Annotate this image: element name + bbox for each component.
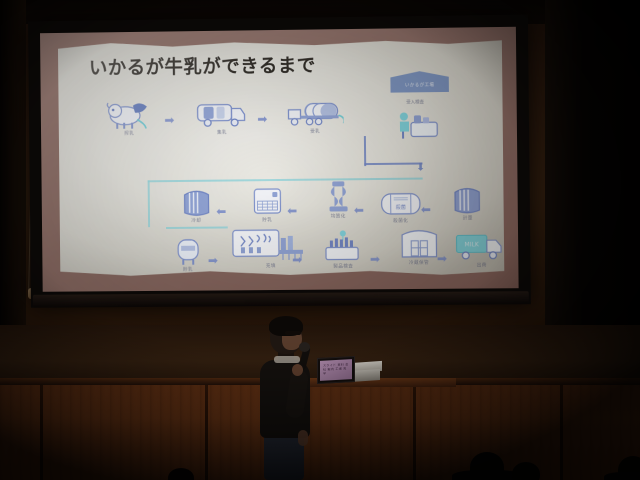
laptop-screen-content: スライド 資料 会社 案内 工場 見学 — [320, 359, 352, 381]
arrow-left-4: ⬅ — [421, 204, 431, 216]
inspection-worker-icon — [395, 111, 444, 146]
screen-canvas: いかるが牛乳ができるまで — [58, 37, 504, 278]
process-node-measuring: 計量 — [436, 179, 499, 221]
panel-seam — [205, 385, 208, 480]
laptop-screen-text: スライド 資料 会社 案内 工場 見学 — [323, 362, 349, 377]
svg-text:MILK: MILK — [464, 241, 479, 248]
panel-seam — [40, 385, 43, 480]
inspection-icon — [312, 228, 375, 263]
process-label: 製品検査 — [312, 263, 374, 270]
panel-seam — [413, 385, 416, 480]
arrow-right-2: ➡ — [257, 113, 267, 125]
process-node-collection: 集乳 — [191, 95, 253, 137]
process-label: 計量 — [437, 215, 500, 222]
arrow-right-3: ➡ — [208, 254, 218, 266]
factory-banner-caption: 受入検査 — [406, 100, 424, 106]
process-label: 受乳 — [284, 128, 346, 135]
pipe-row2-left — [147, 181, 149, 228]
pipe-down-right — [364, 136, 366, 167]
panel-seam — [560, 385, 563, 480]
slide-title: いかるが牛乳ができるまで — [89, 51, 316, 80]
process-label: 搾乳 — [98, 131, 160, 138]
presenter-hand — [292, 364, 303, 376]
process-label: 殺菌化 — [370, 218, 432, 225]
process-node-inspection: 製品検査 — [312, 228, 375, 270]
laptop-display: スライド 資料 会社 案内 工場 見学 — [317, 356, 355, 384]
arrow-right-5: ➡ — [370, 253, 380, 265]
presenter — [252, 318, 322, 480]
collection-truck-icon — [191, 95, 253, 130]
projection-screen: いかるが牛乳ができるまで — [28, 15, 531, 308]
cow-icon — [98, 96, 160, 131]
presentation-slide: いかるが牛乳ができるまで — [58, 37, 504, 278]
stage-curtain-left — [0, 0, 26, 330]
arrow-left-2: ⬅ — [287, 205, 297, 217]
presenter-collar — [274, 356, 300, 363]
pipe-row3-link — [166, 227, 228, 230]
glasses-icon — [285, 331, 301, 335]
arrow-right-6: ➡ — [437, 252, 447, 264]
presenter-hand-lower — [298, 430, 308, 446]
process-label: 出荷 — [450, 262, 504, 269]
audience-head — [512, 462, 540, 480]
stage-curtain-right — [545, 0, 640, 330]
microphone-head — [299, 342, 310, 352]
measuring-icon — [436, 179, 499, 214]
svg-text:殺菌: 殺菌 — [396, 204, 406, 211]
arrow-left-1: ⬅ — [216, 206, 226, 218]
arrow-right-1: ➡ — [164, 114, 174, 126]
delivery-truck-icon: MILK — [450, 227, 504, 262]
process-label: 集乳 — [191, 130, 253, 137]
factory-banner-label: いかるが工場 — [405, 82, 435, 88]
process-node-cow: 搾乳 — [98, 96, 160, 138]
tanker-truck-icon — [284, 93, 346, 128]
arrow-down-1: ⬇ — [416, 161, 425, 172]
process-node-shipping: MILK 出荷 — [450, 227, 504, 269]
arrow-left-3: ⬅ — [354, 204, 364, 216]
factory-banner: いかるが工場 — [390, 71, 449, 93]
pipe-across-right — [365, 162, 423, 165]
arrow-right-4: ➡ — [292, 253, 302, 265]
audience-shoulders — [604, 472, 640, 480]
process-node-tanker: 受乳 — [284, 93, 347, 135]
auditorium-scene: いかるが牛乳ができるまで — [0, 0, 640, 480]
